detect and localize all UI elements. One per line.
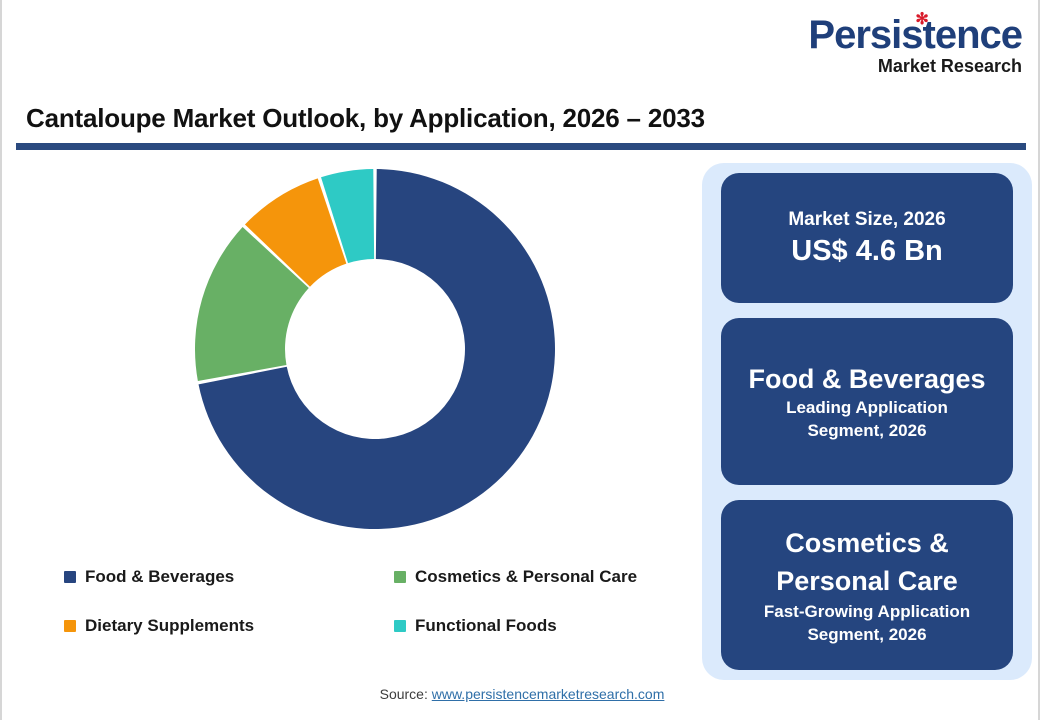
- asterisk-icon: ✻: [915, 12, 927, 28]
- legend-label-cosmetics-personal-care: Cosmetics & Personal Care: [415, 567, 637, 587]
- page-title: Cantaloupe Market Outlook, by Applicatio…: [26, 103, 705, 134]
- legend-item-functional-foods[interactable]: Functional Foods: [394, 616, 684, 636]
- card-leading-segment-sub-line1: Leading Application: [786, 396, 948, 419]
- title-divider: [16, 143, 1026, 150]
- chart-legend: Food & Beverages Cosmetics & Personal Ca…: [64, 552, 684, 650]
- donut-chart-svg: [195, 169, 555, 529]
- legend-label-functional-foods: Functional Foods: [415, 616, 557, 636]
- brand-logo-wordmark: Persistence ✻: [808, 14, 1022, 56]
- infographic-canvas: Persistence ✻ Market Research Cantaloupe…: [0, 0, 1040, 720]
- card-fast-growing-headline-line2: Personal Care: [776, 562, 958, 600]
- card-fast-growing-sub-line1: Fast-Growing Application: [764, 600, 970, 623]
- legend-label-food-beverages: Food & Beverages: [85, 567, 234, 587]
- card-leading-segment-headline: Food & Beverages: [748, 362, 985, 396]
- legend-item-dietary-supplements[interactable]: Dietary Supplements: [64, 616, 394, 636]
- legend-item-food-beverages[interactable]: Food & Beverages: [64, 567, 394, 587]
- card-fast-growing-headline-line1: Cosmetics &: [785, 524, 949, 562]
- donut-chart: [195, 169, 555, 529]
- card-fast-growing-segment: Cosmetics & Personal Care Fast-Growing A…: [721, 500, 1013, 670]
- source-footer: Source: www.persistencemarketresearch.co…: [2, 686, 1040, 702]
- legend-swatch-functional-foods: [394, 620, 406, 632]
- highlights-panel: Market Size, 2026 US$ 4.6 Bn Food & Beve…: [702, 163, 1032, 680]
- legend-swatch-dietary-supplements: [64, 620, 76, 632]
- card-market-size-value: US$ 4.6 Bn: [791, 233, 943, 269]
- card-market-size-kicker: Market Size, 2026: [788, 207, 945, 233]
- legend-item-cosmetics-personal-care[interactable]: Cosmetics & Personal Care: [394, 567, 684, 587]
- legend-label-dietary-supplements: Dietary Supplements: [85, 616, 254, 636]
- source-label: Source:: [380, 686, 428, 702]
- legend-swatch-cosmetics-personal-care: [394, 571, 406, 583]
- card-fast-growing-sub-line2: Segment, 2026: [807, 623, 926, 646]
- brand-logo-tagline: Market Research: [790, 56, 1022, 76]
- source-link[interactable]: www.persistencemarketresearch.com: [432, 686, 665, 702]
- donut-slice-group: [195, 169, 555, 529]
- card-market-size: Market Size, 2026 US$ 4.6 Bn: [721, 173, 1013, 303]
- legend-swatch-food-beverages: [64, 571, 76, 583]
- card-leading-segment: Food & Beverages Leading Application Seg…: [721, 318, 1013, 485]
- card-leading-segment-sub-line2: Segment, 2026: [807, 419, 926, 442]
- brand-logo: Persistence ✻ Market Research: [790, 14, 1022, 76]
